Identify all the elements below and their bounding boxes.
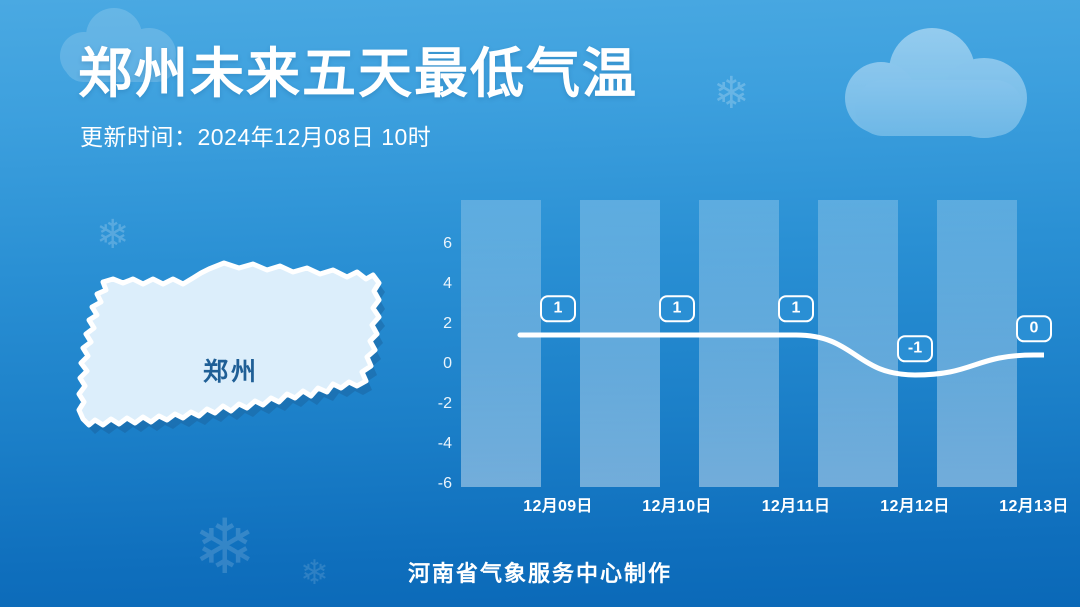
- x-tick-label: 12月09日: [498, 492, 618, 516]
- data-point-label: 1: [540, 295, 576, 322]
- temperature-chart: 6 4 2 0 -2 -4 -6 1 1 1 -1 0 12月09日 12月10…: [404, 186, 1044, 506]
- y-tick-label: 4: [406, 275, 452, 293]
- chart-plot-area: 1 1 1 -1 0 12月09日 12月10日 12月11日 12月12日 1…: [461, 186, 1044, 506]
- data-point-label: -1: [897, 335, 933, 362]
- province-map: 郑州: [56, 248, 406, 478]
- y-tick-label: -6: [406, 475, 452, 493]
- y-tick-label: 2: [406, 315, 452, 333]
- data-point-label: 0: [1016, 315, 1052, 342]
- snowflake-icon: ❄: [713, 72, 750, 116]
- temperature-line: [461, 186, 1044, 506]
- y-tick-label: -2: [406, 395, 452, 413]
- y-tick-label: 0: [406, 355, 452, 373]
- y-axis: 6 4 2 0 -2 -4 -6: [404, 186, 452, 506]
- cloud-icon: [845, 28, 1033, 138]
- header: 郑州未来五天最低气温 更新时间：2024年12月08日 10时: [78, 44, 638, 152]
- x-tick-label: 12月12日: [855, 492, 975, 516]
- y-tick-label: 6: [406, 235, 452, 253]
- map-city-label: 郑州: [56, 352, 406, 388]
- data-point-label: 1: [778, 295, 814, 322]
- x-tick-label: 12月10日: [617, 492, 737, 516]
- weather-infographic: ❄ ❄ ❄ ❄ 郑州未来五天最低气温 更新时间：2024年12月08日 10时 …: [0, 0, 1080, 607]
- x-tick-label: 12月11日: [736, 492, 856, 516]
- x-tick-label: 12月13日: [974, 492, 1080, 516]
- y-tick-label: -4: [406, 435, 452, 453]
- footer-credit: 河南省气象服务中心制作: [0, 556, 1080, 588]
- page-title: 郑州未来五天最低气温: [78, 44, 638, 104]
- update-time-label: 更新时间：2024年12月08日 10时: [80, 118, 638, 152]
- data-point-label: 1: [659, 295, 695, 322]
